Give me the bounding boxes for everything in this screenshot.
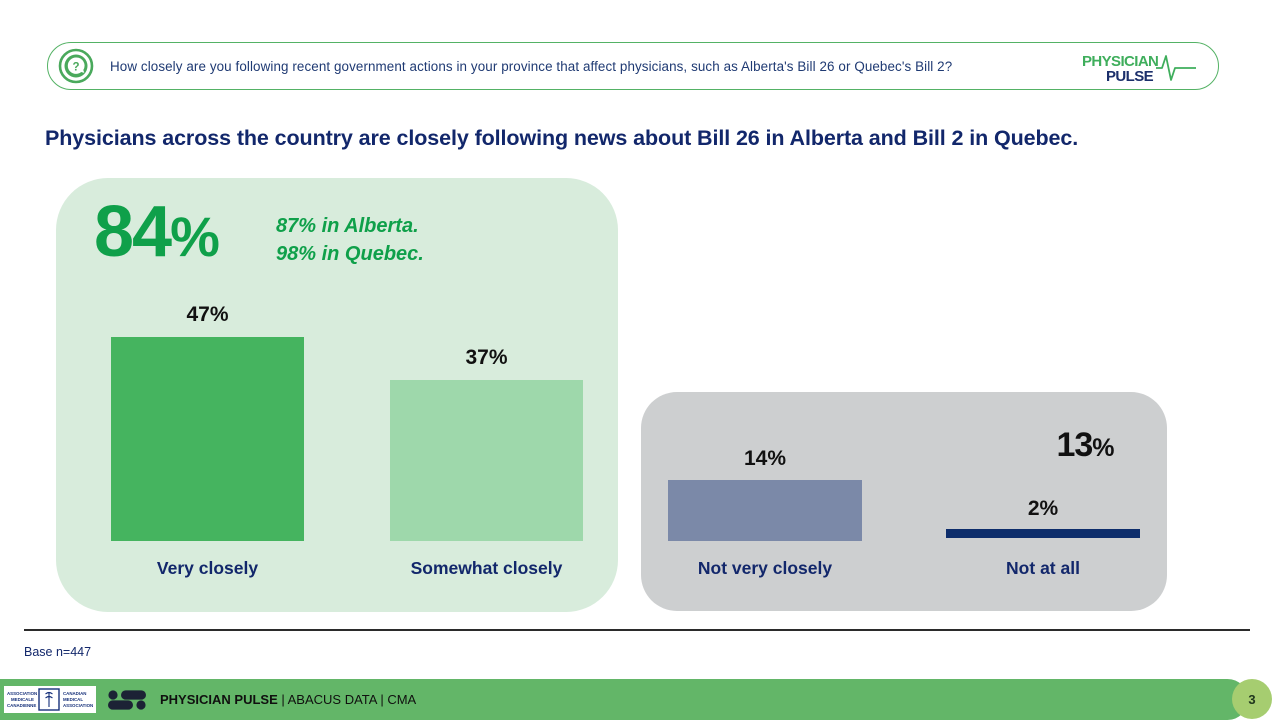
bar-label-very-closely: Very closely [91, 558, 324, 579]
footer-credits: PHYSICIAN PULSE | ABACUS DATA | CMA [160, 692, 416, 707]
footer-divider [24, 629, 1250, 631]
base-note: Base n=447 [24, 645, 91, 659]
svg-text:?: ? [72, 61, 79, 73]
bar-not-at-all [946, 529, 1140, 538]
bar-label-somewhat-closely: Somewhat closely [370, 558, 603, 579]
bar-not-very-closely [668, 480, 862, 541]
page-number-badge: 3 [1232, 679, 1272, 719]
province-note-quebec: 98% in Quebec. [276, 240, 424, 268]
footer-bar: ASSOCIATION MEDICALE CANADIENNE CANADIAN… [0, 679, 1248, 720]
not-closely-group-total-value: 13 [1056, 426, 1092, 464]
bar-value-somewhat-closely: 37% [390, 346, 583, 370]
closely-group-total-percent: % [170, 205, 218, 268]
physician-pulse-logo: PHYSICIAN PULSE [1082, 50, 1200, 86]
bar-somewhat-closely [390, 380, 583, 541]
svg-text:CANADIAN: CANADIAN [63, 691, 86, 696]
not-closely-group-total: 13% [1000, 426, 1170, 465]
svg-text:MEDICAL: MEDICAL [63, 697, 83, 702]
bar-value-not-very-closely: 14% [668, 447, 862, 471]
abacus-data-icon [108, 689, 146, 711]
bar-label-not-very-closely: Not very closely [648, 558, 882, 579]
closely-group-total: 84% [94, 196, 218, 268]
svg-text:CANADIENNE: CANADIENNE [7, 703, 36, 708]
province-breakdown: 87% in Alberta. 98% in Quebec. [276, 212, 424, 269]
svg-text:ASSOCIATION: ASSOCIATION [7, 691, 37, 696]
closely-group-total-value: 84 [94, 192, 170, 272]
not-closely-group-total-percent: % [1092, 434, 1113, 462]
footer-sources: | ABACUS DATA | CMA [278, 692, 416, 707]
svg-text:PULSE: PULSE [1106, 68, 1154, 85]
svg-text:MEDICALE: MEDICALE [11, 697, 34, 702]
slide: ? How closely are you following recent g… [0, 0, 1280, 720]
province-note-alberta: 87% in Alberta. [276, 212, 424, 240]
question-text: How closely are you following recent gov… [110, 59, 952, 74]
question-bubble-icon: ? [58, 48, 94, 84]
bar-very-closely [111, 337, 304, 541]
question-banner: ? How closely are you following recent g… [47, 42, 1219, 90]
cma-logo: ASSOCIATION MEDICALE CANADIENNE CANADIAN… [4, 686, 96, 713]
page-title: Physicians across the country are closel… [45, 126, 1078, 151]
bar-value-very-closely: 47% [111, 303, 304, 327]
bar-label-not-at-all: Not at all [926, 558, 1160, 579]
svg-text:ASSOCIATION: ASSOCIATION [63, 703, 93, 708]
footer-brand: PHYSICIAN PULSE [160, 692, 278, 707]
bar-value-not-at-all: 2% [946, 497, 1140, 521]
